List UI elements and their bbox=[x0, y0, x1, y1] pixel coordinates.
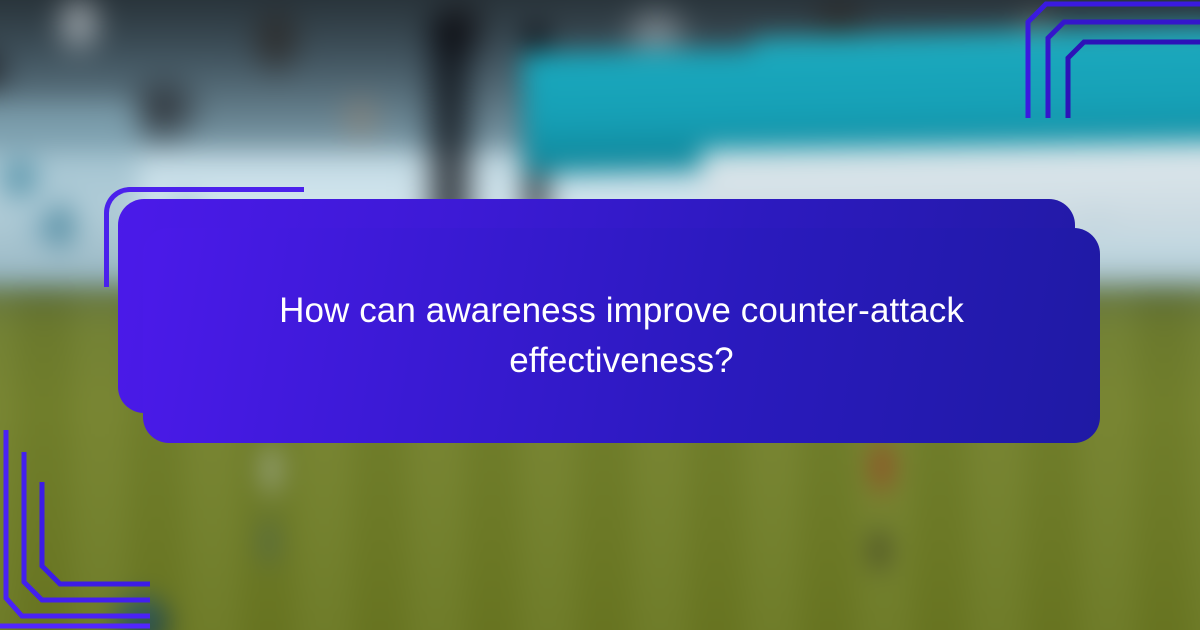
screenshot-stage: How can awareness improve counter-attack… bbox=[0, 0, 1200, 630]
question-card[interactable]: How can awareness improve counter-attack… bbox=[143, 228, 1100, 443]
stadium-post-1 bbox=[421, 17, 479, 230]
question-text: How can awareness improve counter-attack… bbox=[242, 286, 1002, 385]
